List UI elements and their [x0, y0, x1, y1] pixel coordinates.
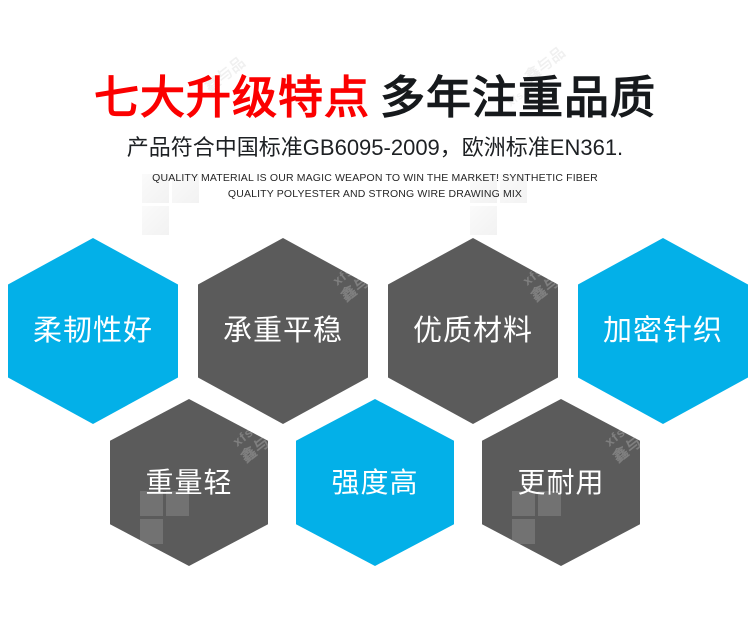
feature-hexagon-6[interactable]: 强度高 [296, 399, 454, 566]
feature-label-4: 加密针织 [603, 315, 723, 347]
watermark-block [142, 206, 169, 235]
watermark-text-icon: 鑫与品 [608, 421, 659, 467]
watermark-block [512, 519, 535, 544]
watermark-block [140, 519, 163, 544]
feature-label-3: 优质材料 [413, 315, 533, 347]
watermark-text-icon: 鑫与品 [236, 421, 287, 467]
feature-hexagon-5[interactable]: xfs.com 鑫与品 重量轻 [110, 399, 268, 566]
watermark-block [470, 206, 497, 235]
feature-hexagon-3[interactable]: xfs.com 鑫与品 优质材料 [388, 238, 558, 424]
feature-label-7: 更耐用 [517, 467, 604, 499]
feature-label-5: 重量轻 [145, 467, 232, 499]
feature-label-6: 强度高 [331, 467, 418, 499]
page-title-red: 七大升级特点 [94, 71, 370, 124]
feature-hexagon-4[interactable]: 加密针织 [578, 238, 748, 424]
page-title-black: 多年注重品质 [380, 72, 656, 123]
infographic-page: 鑫与品 鑫与品 xfs.com 七大升级特点多年注重品质 产品符合中国标准GB6… [0, 0, 750, 639]
feature-hexagon-2[interactable]: xfs.com 鑫与品 承重平稳 [198, 238, 368, 424]
watermark-text-icon: 鑫与品 [526, 260, 577, 306]
subtitle-english-line-2: QUALITY POLYESTER AND STRONG WIRE DRAWIN… [0, 186, 750, 202]
feature-hexagon-7[interactable]: xfs.com 鑫与品 更耐用 [482, 399, 640, 566]
watermark-text-icon: 鑫与品 [336, 260, 387, 306]
subtitle-english-line-1: QUALITY MATERIAL IS OUR MAGIC WEAPON TO … [0, 170, 750, 186]
feature-label-1: 柔韧性好 [33, 315, 153, 347]
subtitle-english: QUALITY MATERIAL IS OUR MAGIC WEAPON TO … [0, 170, 750, 202]
feature-hexagon-1[interactable]: 柔韧性好 [8, 238, 178, 424]
subtitle-standards: 产品符合中国标准GB6095-2009，欧洲标准EN361. [0, 134, 750, 162]
feature-label-2: 承重平稳 [223, 315, 343, 347]
page-title: 七大升级特点多年注重品质 [0, 72, 750, 124]
